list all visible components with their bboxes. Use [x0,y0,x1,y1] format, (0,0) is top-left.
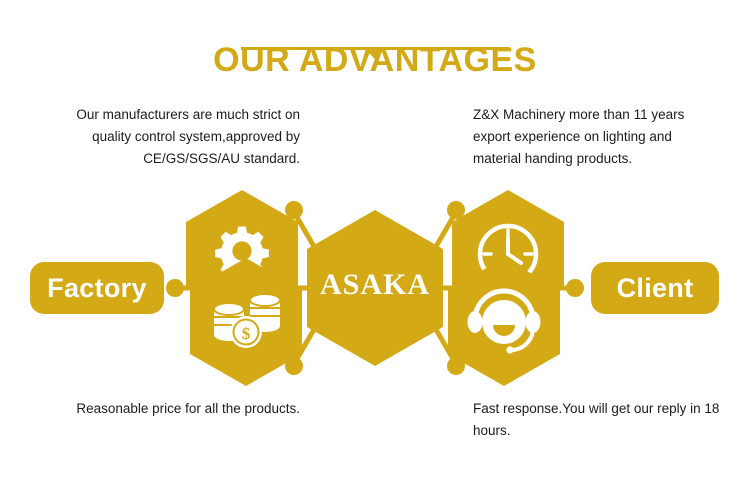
center-brand-label: ASAKA [305,268,445,302]
svg-text:$: $ [242,324,251,343]
node-dot-far-left [166,279,184,297]
caret-down-icon [366,50,384,59]
advantage-text-top-left: Our manufacturers are much strict on qua… [40,104,300,170]
client-pill-label: Client [617,273,694,304]
node-dot-far-right [566,279,584,297]
factory-pill-label: Factory [47,273,147,304]
advantage-text-top-right: Z&X Machinery more than 11 years export … [473,104,723,170]
page-title: OUR ADVANTAGES [0,40,750,80]
factory-pill[interactable]: Factory [30,262,164,314]
title-block: OUR ADVANTAGES [0,40,750,80]
client-pill[interactable]: Client [591,262,719,314]
advantages-infographic: OUR ADVANTAGES Our manufacturers are muc… [0,0,750,490]
